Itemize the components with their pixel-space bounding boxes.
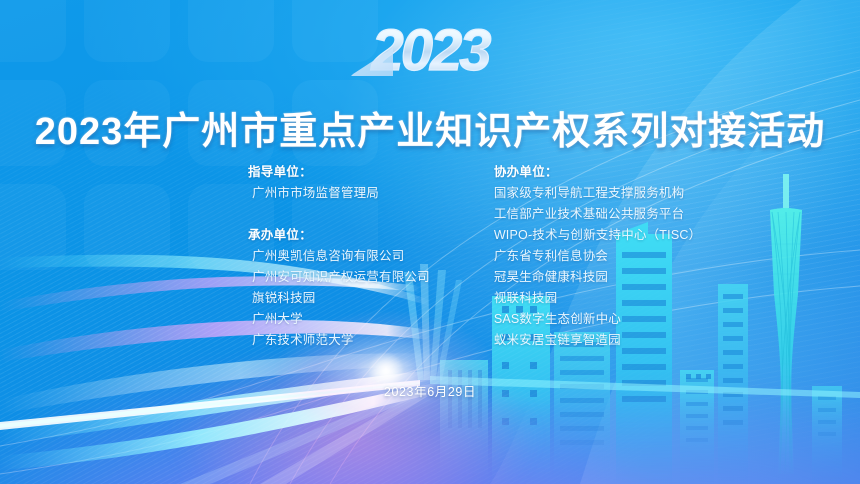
page-title: 2023年广州市重点产业知识产权系列对接活动 <box>0 100 860 155</box>
credits-item: 广州安可知识产权运营有限公司 <box>248 267 430 288</box>
credits-right-column: 协办单位： 国家级专利导航工程支撑服务机构 工信部产业技术基础公共服务平台 WI… <box>494 162 701 351</box>
credits-item: 工信部产业技术基础公共服务平台 <box>494 204 701 225</box>
credits-item: 广州大学 <box>248 309 430 330</box>
event-date: 2023年6月29日 <box>0 381 860 400</box>
credits-item: WIPO-技术与创新支持中心（TISC） <box>494 225 701 246</box>
credits-group-guidance: 指导单位： 广州市市场监督管理局 <box>248 162 430 204</box>
year-logo-2023: 2023 <box>335 18 525 84</box>
credits-item: 视联科技园 <box>494 288 701 309</box>
credits-item: 国家级专利导航工程支撑服务机构 <box>494 183 701 204</box>
credits-group-co-organizers: 协办单位： 国家级专利导航工程支撑服务机构 工信部产业技术基础公共服务平台 WI… <box>494 162 701 351</box>
event-poster: 2023 2023年广州市重点产业知识产权系列对接活动 指导单位： 广州市市场监… <box>0 0 860 484</box>
credits-group-organizers: 承办单位： 广州奥凯信息咨询有限公司 广州安可知识产权运营有限公司 旗锐科技园 … <box>248 225 430 351</box>
credits-block: 指导单位： 广州市市场监督管理局 承办单位： 广州奥凯信息咨询有限公司 广州安可… <box>248 162 718 351</box>
credits-heading: 指导单位： <box>248 162 430 183</box>
credits-heading: 承办单位： <box>248 225 430 246</box>
credits-item: 广州市市场监督管理局 <box>248 183 430 204</box>
credits-item: SAS数字生态创新中心 <box>494 309 701 330</box>
credits-heading: 协办单位： <box>494 162 701 183</box>
credits-item: 旗锐科技园 <box>248 288 430 309</box>
credits-left-column: 指导单位： 广州市市场监督管理局 承办单位： 广州奥凯信息咨询有限公司 广州安可… <box>248 162 430 351</box>
credits-item: 广州奥凯信息咨询有限公司 <box>248 246 430 267</box>
credits-item: 冠昊生命健康科技园 <box>494 267 701 288</box>
credits-item: 广东技术师范大学 <box>248 330 430 351</box>
credits-item: 蚁米安居宝链享智造园 <box>494 330 701 351</box>
credits-item: 广东省专利信息协会 <box>494 246 701 267</box>
